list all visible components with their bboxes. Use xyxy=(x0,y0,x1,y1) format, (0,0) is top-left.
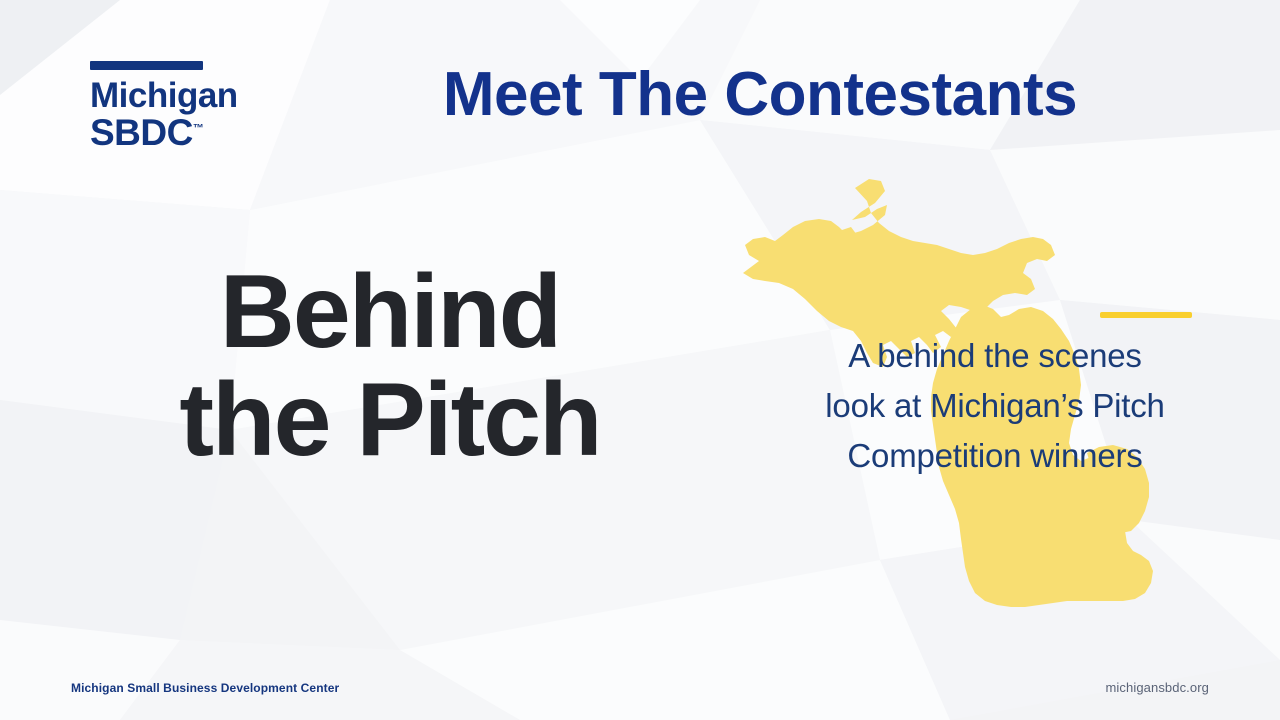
logo-rule xyxy=(90,61,203,70)
logo-line-sbdc: SBDC™ xyxy=(90,114,204,152)
subtitle-line-3: Competition winners xyxy=(790,431,1200,481)
presentation-slide: Michigan SBDC™ Meet The Contestants Behi… xyxy=(0,0,1280,720)
headline-line-2: the Pitch xyxy=(100,366,680,474)
headline: Behind the Pitch xyxy=(100,258,680,474)
accent-rule xyxy=(1100,312,1192,318)
michigan-sbdc-logo: Michigan SBDC™ xyxy=(90,61,320,153)
trademark-icon: ™ xyxy=(193,123,204,135)
headline-line-1: Behind xyxy=(100,258,680,366)
subtitle-line-1: A behind the scenes xyxy=(790,331,1200,381)
logo-line-michigan: Michigan xyxy=(90,78,320,114)
logo-sbdc-text: SBDC xyxy=(90,112,193,153)
footer-website-url[interactable]: michigansbdc.org xyxy=(1106,680,1210,695)
footer-organization-name: Michigan Small Business Development Cent… xyxy=(71,681,339,695)
subtitle-line-2: look at Michigan’s Pitch xyxy=(790,381,1200,431)
subtitle: A behind the scenes look at Michigan’s P… xyxy=(790,331,1200,481)
page-title: Meet The Contestants xyxy=(350,62,1170,127)
